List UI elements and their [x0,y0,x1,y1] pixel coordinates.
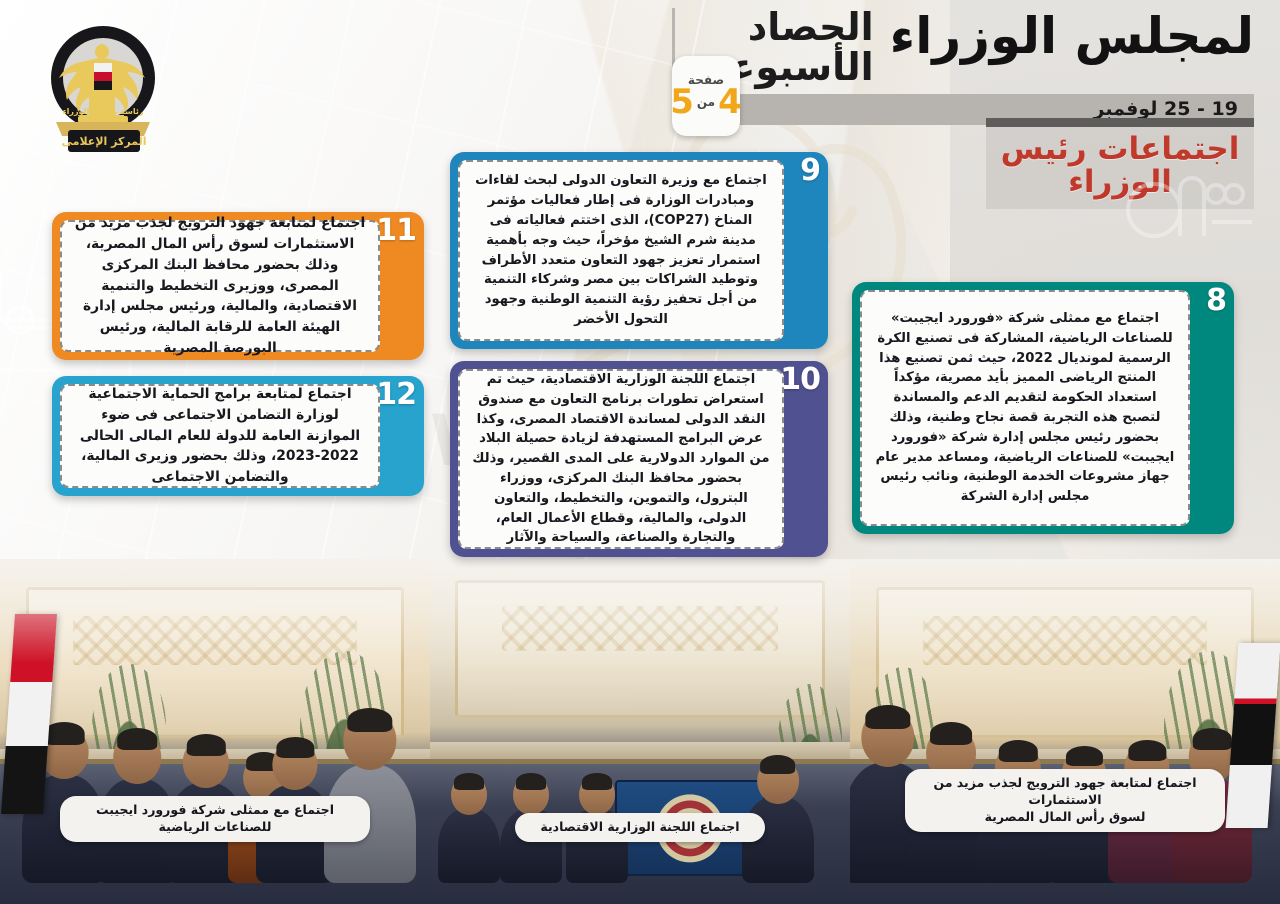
page-title: لمجلس الوزراء [890,8,1254,66]
news-card-8[interactable]: 8 اجتماع مع ممثلى شركة «فورورد ايجيبت» ل… [852,282,1234,534]
card-text-10: اجتماع اللجنة الوزارية الاقتصادية، حيث ت… [472,370,770,548]
card-inner-10: اجتماع اللجنة الوزارية الاقتصادية، حيث ت… [458,369,784,549]
photo-caption-3: اجتماع مع ممثلى شركة فورورد ايجيبت للصنا… [60,796,370,842]
photo-caption-1: اجتماع لمتابعة جهود الترويج لجذب مزيد من… [905,769,1225,832]
card-inner-8: اجتماع مع ممثلى شركة «فورورد ايجيبت» للص… [860,290,1190,526]
news-card-9[interactable]: 9 اجتماع مع وزيرة التعاون الدولى لبحث لق… [450,152,828,349]
page-badge-total: 5 [670,85,694,119]
section-title-line-1: اجتماعات رئيس [1000,133,1240,166]
page-badge-numbers: 4 من 5 [670,85,742,119]
card-number-12: 12 [376,380,416,410]
header-block: لمجلس الوزراء الحصاد الأسبوعى 19 - 25 لو… [672,8,1254,125]
photo-strip: اجتماع لمتابعة جهود الترويج لجذب مزيد من… [0,559,1280,904]
card-text-12: اجتماع لمتابعة برامج الحماية الاجتماعية … [74,384,366,489]
card-text-11: اجتماع لمتابعة جهود الترويج لجذب مزيد من… [74,213,366,360]
page-badge-of: من [697,95,715,109]
infographic-page: اجتماع لمتابعة جهود الترويج لجذب مزيد من… [0,0,1280,904]
card-number-11: 11 [376,216,416,246]
kicker-line-1: الحصاد [691,8,874,48]
section-title-line-2: الوزراء [1000,166,1240,199]
news-card-11[interactable]: 11 اجتماع لمتابعة جهود الترويج لجذب مزيد… [52,212,424,360]
page-number-badge: صفحة 4 من 5 [672,56,740,136]
card-number-9: 9 [800,156,820,186]
card-text-9: اجتماع مع وزيرة التعاون الدولى لبحث لقاء… [472,171,770,329]
photo-forward-egypt-meeting: اجتماع مع ممثلى شركة فورورد ايجيبت للصنا… [0,559,430,904]
card-number-8: 8 [1206,286,1226,316]
news-card-10[interactable]: 10 اجتماع اللجنة الوزارية الاقتصادية، حي… [450,361,828,557]
svg-text:المركز الإعلامى: المركز الإعلامى [62,135,147,148]
card-inner-12: اجتماع لمتابعة برامج الحماية الاجتماعية … [60,384,380,488]
page-badge-current: 4 [718,85,742,119]
photo-investment-meeting: اجتماع لمتابعة جهود الترويج لجذب مزيد من… [850,559,1280,904]
photo-caption-2: اجتماع اللجنة الوزارية الاقتصادية [515,813,765,842]
section-banner: اجتماعات رئيس الوزراء [986,118,1254,209]
photo-economic-committee: اجتماع اللجنة الوزارية الاقتصادية [430,559,850,904]
news-card-12[interactable]: 12 اجتماع لمتابعة برامج الحماية الاجتماع… [52,376,424,496]
card-inner-11: اجتماع لمتابعة جهود الترويج لجذب مزيد من… [60,220,380,352]
card-inner-9: اجتماع مع وزيرة التعاون الدولى لبحث لقاء… [458,160,784,341]
svg-text:رئاسة مجلس الوزراء: رئاسة مجلس الوزراء [63,107,144,117]
card-number-10: 10 [780,365,820,395]
cabinet-media-center-logo: المركز الإعلامى رئاسة مجلس الوزراء [38,18,168,168]
card-text-8: اجتماع مع ممثلى شركة «فورورد ايجيبت» للص… [874,309,1176,507]
